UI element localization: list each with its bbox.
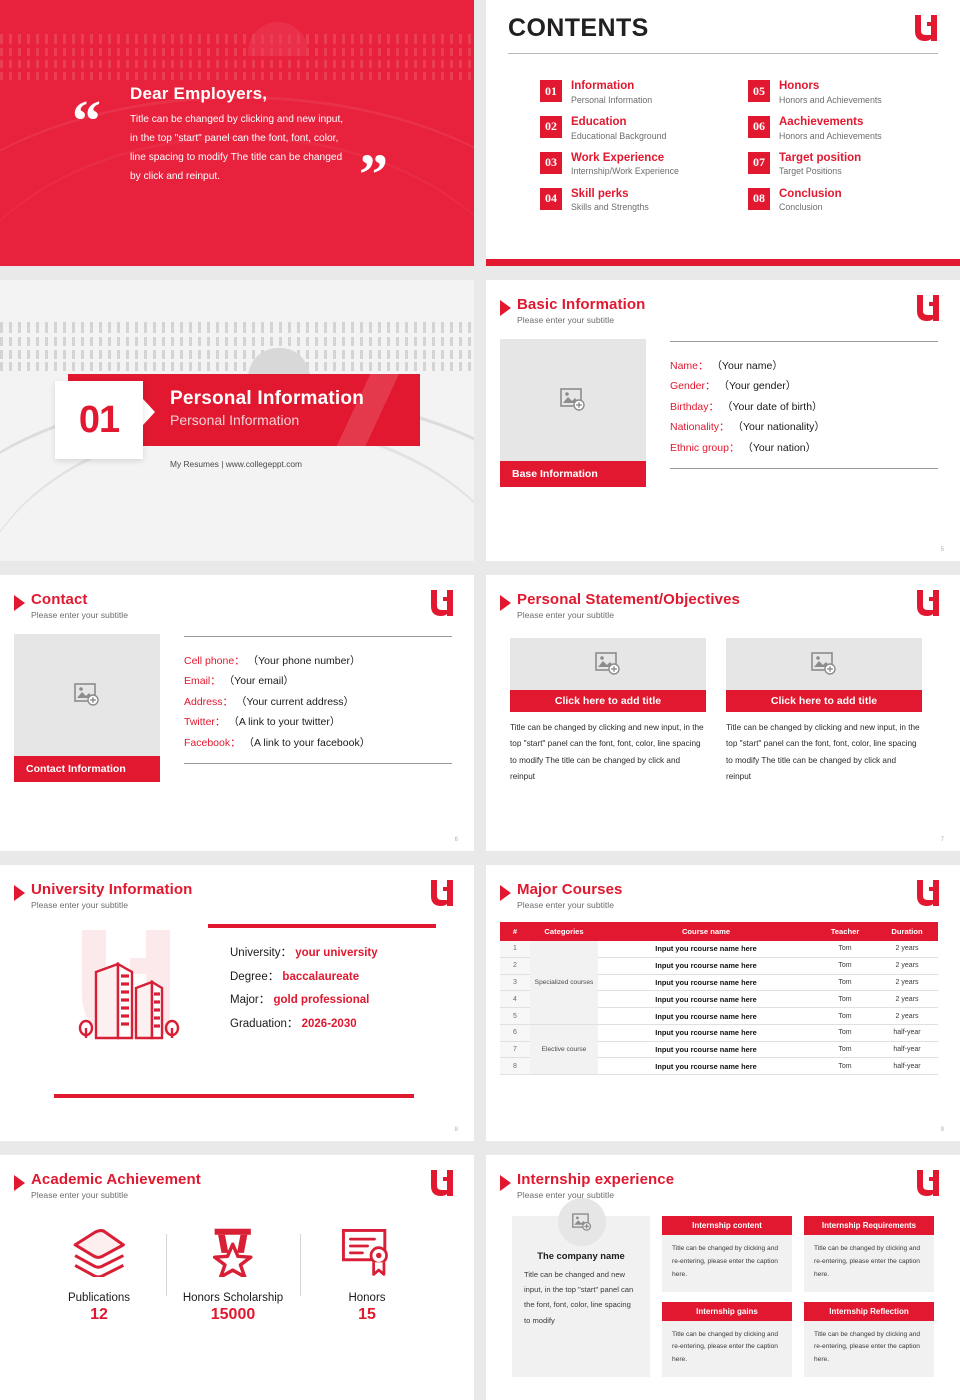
info-field-key: Address： xyxy=(184,696,233,708)
add-title-button[interactable]: Click here to add title xyxy=(726,690,922,712)
info-field-value[interactable]: （Your nation） xyxy=(742,442,816,454)
section-subtitle: Personal Information xyxy=(170,412,364,428)
slide-header: Basic Information Please enter your subt… xyxy=(500,296,938,325)
info-field: Address： （Your current address） xyxy=(184,692,452,712)
add-image-icon xyxy=(560,388,586,412)
cell-index: 4 xyxy=(500,991,530,1008)
info-field-key: Gender： xyxy=(670,380,716,392)
cell-duration: half-year xyxy=(876,1058,938,1075)
contents-item[interactable]: 01 Information Personal Information xyxy=(540,80,730,105)
contents-item[interactable]: 04 Skill perks Skills and Strengths xyxy=(540,188,730,213)
statement-card-body: Title can be changed by clicking and new… xyxy=(510,720,706,786)
table-row[interactable]: 6 Elective course Input you rcourse name… xyxy=(500,1024,938,1041)
u-logo-icon xyxy=(914,294,940,322)
u-logo-icon xyxy=(914,1169,940,1197)
internship-card-title: Internship Reflection xyxy=(804,1302,934,1321)
university-field-value[interactable]: gold professional xyxy=(273,994,369,1006)
info-field-key: Facebook： xyxy=(184,737,241,749)
slide-cover-quote[interactable]: “ Dear Employers, Title can be changed b… xyxy=(0,0,474,266)
books-stack-icon xyxy=(32,1226,166,1278)
university-field-key: Major： xyxy=(230,994,270,1006)
table-row[interactable]: 1 Specialized courses Input you rcourse … xyxy=(500,941,938,957)
info-field-value[interactable]: （Your date of birth） xyxy=(722,401,823,413)
photo-placeholder[interactable] xyxy=(500,339,646,461)
cell-course-name[interactable]: Input you rcourse name here xyxy=(598,1058,814,1075)
page-number: 6 xyxy=(455,837,458,843)
achievement-value: 12 xyxy=(32,1306,166,1324)
column-header-index: # xyxy=(500,922,530,941)
achievement-stat[interactable]: Publications 12 xyxy=(32,1226,166,1324)
cell-duration: half-year xyxy=(876,1041,938,1058)
photo-card[interactable]: Contact Information xyxy=(14,634,160,782)
column-header-duration: Duration xyxy=(876,922,938,941)
cell-duration: 2 years xyxy=(876,941,938,957)
achievement-value: 15000 xyxy=(166,1306,300,1324)
contents-item-subtitle: Conclusion xyxy=(779,202,842,212)
info-field-key: Nationality： xyxy=(670,421,730,433)
page-subtitle: Please enter your subtitle xyxy=(517,315,645,325)
contents-item-title: Target position xyxy=(779,152,861,166)
page-number: 7 xyxy=(941,837,944,843)
page-subtitle: Please enter your subtitle xyxy=(31,900,192,910)
u-logo-icon xyxy=(428,589,454,617)
page-title: University Information xyxy=(31,881,192,898)
quote-close-icon: ” xyxy=(359,146,388,204)
achievement-stat[interactable]: Honors 15 xyxy=(300,1226,434,1324)
contents-footer-bar xyxy=(486,259,960,266)
info-field-key: Cell phone： xyxy=(184,655,245,667)
contact-body: Contact Information Cell phone： （Your ph… xyxy=(14,634,452,782)
cell-index: 5 xyxy=(500,1008,530,1025)
achievement-value: 15 xyxy=(300,1306,434,1324)
courses-table[interactable]: # Categories Course name Teacher Duratio… xyxy=(500,922,938,1075)
info-field-value[interactable]: （Your name） xyxy=(711,360,782,372)
photo-card[interactable]: Base Information xyxy=(500,339,646,487)
info-field: Twitter： （A link to your twitter） xyxy=(184,712,452,732)
contents-item-title: Honors xyxy=(779,80,882,94)
info-field: Gender： （Your gender） xyxy=(670,376,938,396)
page-title: Major Courses xyxy=(517,881,623,898)
internship-body: The company name Title can be changed an… xyxy=(500,1216,938,1377)
info-field-key: Birthday： xyxy=(670,401,719,413)
contents-item-subtitle: Educational Background xyxy=(571,131,666,141)
contents-item-number: 03 xyxy=(540,152,562,174)
cell-duration: 2 years xyxy=(876,1008,938,1025)
section-number-box: 01 xyxy=(55,381,143,459)
slide-academic-achievement[interactable]: Academic Achievement Please enter your s… xyxy=(0,1155,474,1400)
contents-item-subtitle: Personal Information xyxy=(571,95,652,105)
slide-header: Internship experience Please enter your … xyxy=(500,1171,938,1200)
achievement-stat[interactable]: Honors Scholarship 15000 xyxy=(166,1226,300,1324)
achievement-label: Publications xyxy=(32,1292,166,1304)
internship-card-body: Title can be changed by clicking and re-… xyxy=(804,1235,934,1292)
contents-item-number: 06 xyxy=(748,116,770,138)
photo-placeholder[interactable] xyxy=(726,638,922,690)
cell-index: 8 xyxy=(500,1058,530,1075)
slide-header: University Information Please enter your… xyxy=(14,881,452,910)
section-footer: My Resumes | www.collegeppt.com xyxy=(170,459,302,469)
university-field: Major： gold professional xyxy=(230,989,436,1013)
slide-contents[interactable]: CONTENTS 01 Information Personal Informa… xyxy=(486,0,960,266)
info-field-key: Twitter： xyxy=(184,716,225,728)
contents-item-subtitle: Target Positions xyxy=(779,166,861,176)
statement-card-body: Title can be changed by clicking and new… xyxy=(726,720,922,786)
contents-item-title: Education xyxy=(571,116,666,130)
internship-card-title: Internship gains xyxy=(662,1302,792,1321)
add-title-button[interactable]: Click here to add title xyxy=(510,690,706,712)
section-number: 01 xyxy=(79,399,119,442)
info-field: Nationality： （Your nationality） xyxy=(670,417,938,437)
u-logo-icon xyxy=(914,879,940,907)
university-field-key: University： xyxy=(230,947,292,959)
cell-teacher: Tom xyxy=(814,974,876,991)
column-header-categories: Categories xyxy=(530,922,598,941)
university-fields: University： your university Degree： bacc… xyxy=(208,924,452,1048)
page-title: Academic Achievement xyxy=(31,1171,201,1188)
info-field: Name： （Your name） xyxy=(670,356,938,376)
contents-item-subtitle: Honors and Achievements xyxy=(779,131,882,141)
info-field: Email： （Your email） xyxy=(184,671,452,691)
university-field: University： your university xyxy=(230,942,436,966)
add-image-icon xyxy=(572,1213,592,1232)
internship-card[interactable]: Internship gains Title can be changed by… xyxy=(662,1302,792,1378)
contents-item-subtitle: Internship/Work Experience xyxy=(571,166,679,176)
page-subtitle: Please enter your subtitle xyxy=(31,610,128,620)
university-field-value[interactable]: your university xyxy=(295,947,377,959)
cell-duration: half-year xyxy=(876,1024,938,1041)
achievement-stats: Publications 12 Honors Scholarship 15000 xyxy=(14,1226,452,1324)
page-title: CONTENTS xyxy=(508,14,649,43)
contents-item[interactable]: 07 Target position Target Positions xyxy=(748,152,938,177)
quote-open-icon: “ xyxy=(72,92,101,150)
cell-teacher: Tom xyxy=(814,941,876,957)
slide-major-courses[interactable]: Major Courses Please enter your subtitle… xyxy=(486,865,960,1141)
slide-header: Academic Achievement Please enter your s… xyxy=(14,1171,452,1200)
cover-title: Dear Employers, xyxy=(130,84,345,104)
statement-cards: Click here to add title Title can be cha… xyxy=(500,638,938,786)
achievement-label: Honors xyxy=(300,1292,434,1304)
cell-duration: 2 years xyxy=(876,991,938,1008)
university-field: Graduation： 2026-2030 xyxy=(230,1013,436,1037)
contents-item-title: Aachievements xyxy=(779,116,882,130)
column-header-teacher: Teacher xyxy=(814,922,876,941)
university-field: Degree： baccalaureate xyxy=(230,966,436,990)
info-field: Cell phone： （Your phone number） xyxy=(184,651,452,671)
add-image-icon xyxy=(595,652,621,676)
contents-item[interactable]: 06 Aachievements Honors and Achievements xyxy=(748,116,938,141)
info-field-key: Email： xyxy=(184,675,221,687)
slide-university-information[interactable]: University Information Please enter your… xyxy=(0,865,474,1141)
contents-item-title: Information xyxy=(571,80,652,94)
section-arrow-icon xyxy=(143,399,155,425)
info-field-value[interactable]: （A link to your facebook） xyxy=(244,737,371,749)
university-field-key: Graduation： xyxy=(230,1018,298,1030)
cell-index: 3 xyxy=(500,974,530,991)
slide-header: Personal Statement/Objectives Please ent… xyxy=(500,591,938,620)
contents-item-title: Work Experience xyxy=(571,152,679,166)
company-card[interactable]: The company name Title can be changed an… xyxy=(512,1216,650,1377)
add-image-icon xyxy=(74,683,100,707)
page-title: Personal Statement/Objectives xyxy=(517,591,740,608)
contact-fields: Cell phone： （Your phone number） Email： （… xyxy=(184,634,452,782)
certificate-icon xyxy=(300,1226,434,1278)
university-field-key: Degree： xyxy=(230,971,279,983)
u-logo-icon xyxy=(914,589,940,617)
cell-course-name[interactable]: Input you rcourse name here xyxy=(598,1024,814,1041)
basic-info-fields: Name： （Your name） Gender： （Your gender） … xyxy=(670,339,938,487)
section-text-block: Personal Information Personal Informatio… xyxy=(170,388,364,428)
internship-card-title: Internship content xyxy=(662,1216,792,1235)
slide-basic-information[interactable]: Basic Information Please enter your subt… xyxy=(486,280,960,561)
internship-card-body: Title can be changed by clicking and re-… xyxy=(662,1235,792,1292)
medal-star-icon xyxy=(166,1226,300,1278)
page-title: Contact xyxy=(31,591,128,608)
cell-category: Elective course xyxy=(530,1024,598,1074)
photo-caption: Base Information xyxy=(500,461,646,487)
cell-course-name[interactable]: Input you rcourse name here xyxy=(598,991,814,1008)
page-subtitle: Please enter your subtitle xyxy=(517,1190,674,1200)
slide-section-divider[interactable]: 01 Personal Information Personal Informa… xyxy=(0,280,474,561)
info-field-value[interactable]: （Your phone number） xyxy=(248,655,361,667)
slide-contact[interactable]: Contact Please enter your subtitle Conta… xyxy=(0,575,474,851)
internship-card[interactable]: Internship Reflection Title can be chang… xyxy=(804,1302,934,1378)
contents-header: CONTENTS xyxy=(508,14,938,43)
page-title: Internship experience xyxy=(517,1171,674,1188)
page-number: 9 xyxy=(941,1127,944,1133)
contents-item-number: 02 xyxy=(540,116,562,138)
u-logo-icon xyxy=(428,1169,454,1197)
add-image-icon xyxy=(811,652,837,676)
cover-body: Title can be changed by clicking and new… xyxy=(130,111,345,187)
contents-list: 01 Information Personal Information 05 H… xyxy=(508,80,938,213)
cell-index: 2 xyxy=(500,957,530,974)
contents-item[interactable]: 02 Education Educational Background xyxy=(540,116,730,141)
cell-teacher: Tom xyxy=(814,1041,876,1058)
table-header-row: # Categories Course name Teacher Duratio… xyxy=(500,922,938,941)
header-arrow-icon xyxy=(500,595,511,611)
cell-teacher: Tom xyxy=(814,1008,876,1025)
info-field-value[interactable]: （Your email） xyxy=(224,675,294,687)
header-arrow-icon xyxy=(500,1175,511,1191)
cell-course-name[interactable]: Input you rcourse name here xyxy=(598,1008,814,1025)
university-field-value[interactable]: 2026-2030 xyxy=(302,1018,357,1030)
info-field-value[interactable]: （Your current address） xyxy=(236,696,354,708)
cover-text-block: Dear Employers, Title can be changed by … xyxy=(130,84,345,187)
achievement-label: Honors Scholarship xyxy=(166,1292,300,1304)
slide-header: Contact Please enter your subtitle xyxy=(14,591,452,620)
company-body: Title can be changed and new input, in t… xyxy=(524,1267,638,1328)
info-field-value[interactable]: （Your gender） xyxy=(718,380,796,392)
contents-item-number: 08 xyxy=(748,188,770,210)
u-logo-icon xyxy=(428,879,454,907)
info-field-key: Name： xyxy=(670,360,709,372)
page-title: Basic Information xyxy=(517,296,645,313)
cell-category: Specialized courses xyxy=(530,941,598,1024)
university-illustration xyxy=(48,924,208,1042)
internship-cards: Internship content Title can be changed … xyxy=(662,1216,934,1377)
cell-teacher: Tom xyxy=(814,1058,876,1075)
section-title: Personal Information xyxy=(170,388,364,410)
internship-card[interactable]: Internship content Title can be changed … xyxy=(662,1216,792,1292)
info-field: Ethnic group： （Your nation） xyxy=(670,438,938,458)
cell-duration: 2 years xyxy=(876,957,938,974)
rule-bottom xyxy=(54,1094,414,1098)
info-field: Facebook： （A link to your facebook） xyxy=(184,733,452,753)
cell-index: 7 xyxy=(500,1041,530,1058)
company-name: The company name xyxy=(524,1250,638,1261)
internship-card-title: Internship Requirements xyxy=(804,1216,934,1235)
u-logo-icon xyxy=(912,14,938,42)
contents-item-subtitle: Skills and Strengths xyxy=(571,202,649,212)
info-field: Birthday： （Your date of birth） xyxy=(670,397,938,417)
contents-divider xyxy=(508,53,938,54)
cell-course-name[interactable]: Input you rcourse name here xyxy=(598,1041,814,1058)
buildings-icon xyxy=(74,948,182,1040)
contents-item-number: 01 xyxy=(540,80,562,102)
page-subtitle: Please enter your subtitle xyxy=(517,610,740,620)
university-body: University： your university Degree： bacc… xyxy=(14,924,452,1048)
contents-item-title: Skill perks xyxy=(571,188,649,202)
header-arrow-icon xyxy=(500,300,511,316)
statement-card[interactable]: Click here to add title Title can be cha… xyxy=(510,638,706,786)
cell-teacher: Tom xyxy=(814,957,876,974)
photo-placeholder[interactable] xyxy=(510,638,706,690)
cell-course-name[interactable]: Input you rcourse name here xyxy=(598,941,814,957)
contents-item[interactable]: 08 Conclusion Conclusion xyxy=(748,188,938,213)
page-number: 8 xyxy=(455,1127,458,1133)
basic-info-body: Base Information Name： （Your name） Gende… xyxy=(500,339,938,487)
contents-item-title: Conclusion xyxy=(779,188,842,202)
info-field-value[interactable]: （A link to your twitter） xyxy=(228,716,340,728)
university-field-value[interactable]: baccalaureate xyxy=(282,971,359,983)
contents-item-number: 07 xyxy=(748,152,770,174)
cell-index: 6 xyxy=(500,1024,530,1041)
page-subtitle: Please enter your subtitle xyxy=(31,1190,201,1200)
header-arrow-icon xyxy=(14,595,25,611)
cell-course-name[interactable]: Input you rcourse name here xyxy=(598,974,814,991)
photo-placeholder[interactable] xyxy=(14,634,160,756)
header-arrow-icon xyxy=(500,885,511,901)
slide-header: Major Courses Please enter your subtitle xyxy=(500,881,938,910)
header-arrow-icon xyxy=(14,885,25,901)
photo-caption: Contact Information xyxy=(14,756,160,782)
cell-teacher: Tom xyxy=(814,1024,876,1041)
header-arrow-icon xyxy=(14,1175,25,1191)
internship-card[interactable]: Internship Requirements Title can be cha… xyxy=(804,1216,934,1292)
contents-item-number: 04 xyxy=(540,188,562,210)
contents-item-number: 05 xyxy=(748,80,770,102)
info-field-value[interactable]: （Your nationality） xyxy=(732,421,824,433)
contents-item[interactable]: 03 Work Experience Internship/Work Exper… xyxy=(540,152,730,177)
slide-internship-experience[interactable]: Internship experience Please enter your … xyxy=(486,1155,960,1400)
slide-deck-contact-sheet: “ Dear Employers, Title can be changed b… xyxy=(0,0,960,1400)
info-field-key: Ethnic group： xyxy=(670,442,739,454)
cell-teacher: Tom xyxy=(814,991,876,1008)
cell-duration: 2 years xyxy=(876,974,938,991)
slide-personal-statement[interactable]: Personal Statement/Objectives Please ent… xyxy=(486,575,960,851)
contents-item-subtitle: Honors and Achievements xyxy=(779,95,882,105)
page-number: 5 xyxy=(941,547,944,553)
column-header-course-name: Course name xyxy=(598,922,814,941)
company-photo-placeholder[interactable] xyxy=(558,1198,606,1246)
internship-card-body: Title can be changed by clicking and re-… xyxy=(804,1321,934,1378)
cell-course-name[interactable]: Input you rcourse name here xyxy=(598,957,814,974)
contents-item[interactable]: 05 Honors Honors and Achievements xyxy=(748,80,938,105)
cell-index: 1 xyxy=(500,941,530,957)
internship-card-body: Title can be changed by clicking and re-… xyxy=(662,1321,792,1378)
page-subtitle: Please enter your subtitle xyxy=(517,900,623,910)
statement-card[interactable]: Click here to add title Title can be cha… xyxy=(726,638,922,786)
